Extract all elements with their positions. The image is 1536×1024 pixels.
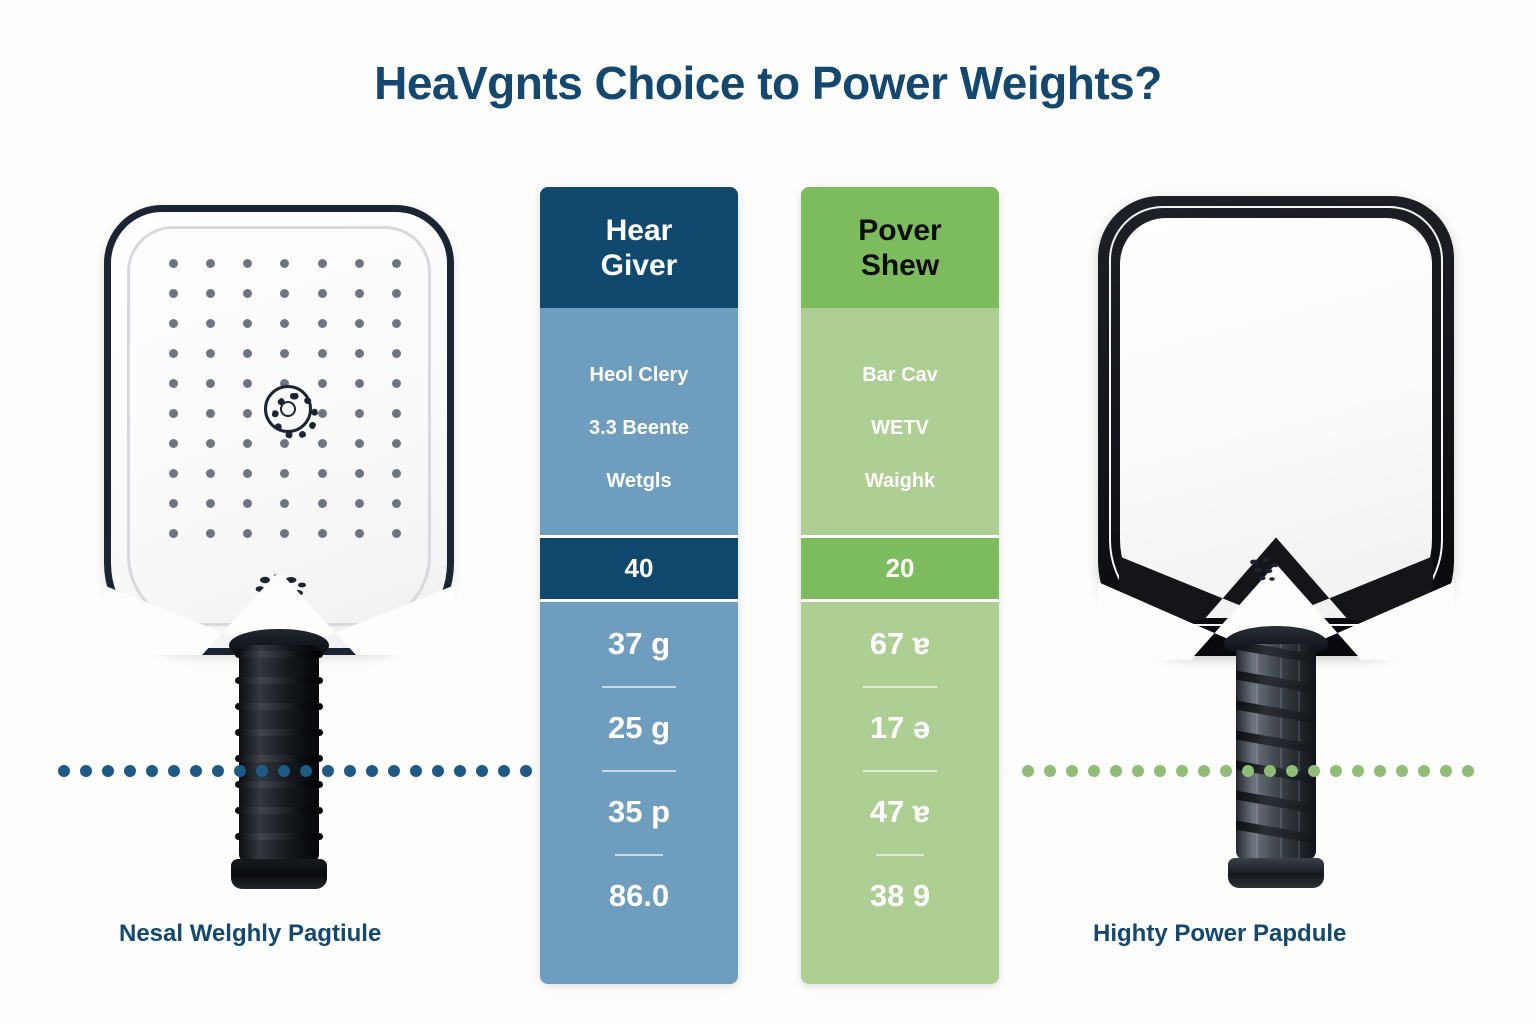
left-baseline-dotted-line bbox=[58, 765, 536, 777]
panel-green-body: Bar Cav WETV Waighk 20 67 ɐ 17 ǝ 47 ɐ 38… bbox=[801, 308, 999, 984]
page-title: HeaVgnts Choice to Power Weights? bbox=[0, 56, 1536, 110]
left-paddle-image bbox=[104, 205, 454, 895]
panel-green-band-value: 20 bbox=[801, 535, 999, 602]
right-paddle-image bbox=[1098, 196, 1454, 896]
panel-green-value-1: 17 ǝ bbox=[801, 686, 999, 770]
panel-blue-value-0: 37 g bbox=[540, 602, 738, 686]
paddle-logo-mark-icon bbox=[1244, 554, 1284, 588]
panel-green-value-2: 47 ɐ bbox=[801, 770, 999, 854]
panel-blue-header-line2: Giver bbox=[550, 248, 728, 283]
panel-green-value-list: 67 ɐ 17 ǝ 47 ɐ 38 9 bbox=[801, 602, 999, 984]
panel-green-spec-2: Waighk bbox=[801, 444, 999, 535]
paddle-logo-scribble-icon bbox=[251, 567, 315, 625]
panel-green-header: Pover Shew bbox=[801, 187, 999, 308]
panel-blue-header-line1: Hear bbox=[550, 213, 728, 248]
panel-blue-body: Heol Clery 3.3 Beente Wetgls 40 37 g 25 … bbox=[540, 308, 738, 984]
panel-blue-spec-0: Heol Clery bbox=[540, 308, 738, 391]
panel-green-value-0: 67 ɐ bbox=[801, 602, 999, 686]
left-product-caption: Nesal Welghly Pagtiule bbox=[119, 920, 381, 948]
right-paddle-edge-guard bbox=[1098, 196, 1454, 656]
panel-green-value-3: 38 9 bbox=[801, 854, 999, 984]
panel-blue-value-3: 86.0 bbox=[540, 854, 738, 984]
right-product-caption: Highty Power Papdule bbox=[1093, 920, 1346, 948]
panel-blue-spec-1: 3.3 Beente bbox=[540, 391, 738, 444]
panel-blue-spec-2: Wetgls bbox=[540, 444, 738, 535]
panel-green-spec-0: Bar Cav bbox=[801, 308, 999, 391]
panel-green-header-line1: Pover bbox=[811, 213, 989, 248]
comparison-panel-green: Pover Shew Bar Cav WETV Waighk 20 67 ɐ 1… bbox=[801, 187, 999, 984]
panel-green-header-line2: Shew bbox=[811, 248, 989, 283]
right-baseline-dotted-line bbox=[1022, 765, 1484, 777]
panel-blue-header: Hear Giver bbox=[540, 187, 738, 308]
panel-green-spec-1: WETV bbox=[801, 391, 999, 444]
left-paddle-face bbox=[104, 205, 454, 655]
comparison-panel-blue: Hear Giver Heol Clery 3.3 Beente Wetgls … bbox=[540, 187, 738, 984]
paddle-brand-emblem-icon bbox=[264, 385, 312, 433]
right-paddle-handle bbox=[1232, 626, 1320, 888]
panel-blue-band-value: 40 bbox=[540, 535, 738, 602]
left-paddle-handle bbox=[236, 629, 322, 889]
panel-blue-value-1: 25 g bbox=[540, 686, 738, 770]
panel-blue-value-2: 35 p bbox=[540, 770, 738, 854]
panel-blue-value-list: 37 g 25 g 35 p 86.0 bbox=[540, 602, 738, 984]
